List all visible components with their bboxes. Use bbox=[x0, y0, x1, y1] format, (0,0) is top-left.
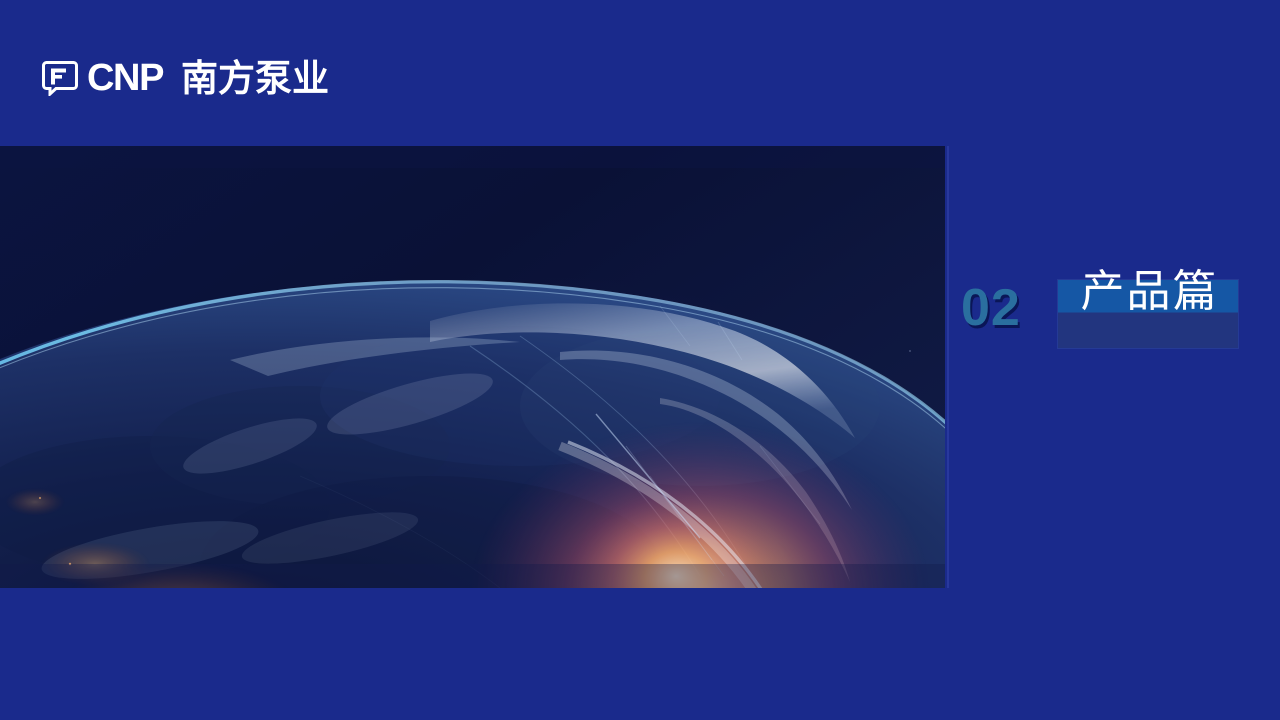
presentation-slide: CNP 南方泵业 bbox=[0, 0, 1280, 720]
slide-header: CNP 南方泵业 bbox=[0, 0, 1280, 146]
section-number: 02 bbox=[961, 282, 1021, 334]
earth-from-space-illustration bbox=[0, 146, 945, 588]
logo-chinese-name: 南方泵业 bbox=[181, 60, 329, 97]
company-logo: CNP 南方泵业 bbox=[42, 55, 329, 101]
section-label-block: 02 产品篇 bbox=[947, 146, 1280, 588]
earth-image-panel bbox=[0, 146, 945, 588]
logo-wordmark: CNP bbox=[87, 59, 163, 97]
slide-footer: 节能泵王 绿色中国 bbox=[0, 588, 1280, 720]
section-title: 产品篇 bbox=[1052, 270, 1247, 314]
cnp-monogram-icon bbox=[42, 60, 78, 96]
